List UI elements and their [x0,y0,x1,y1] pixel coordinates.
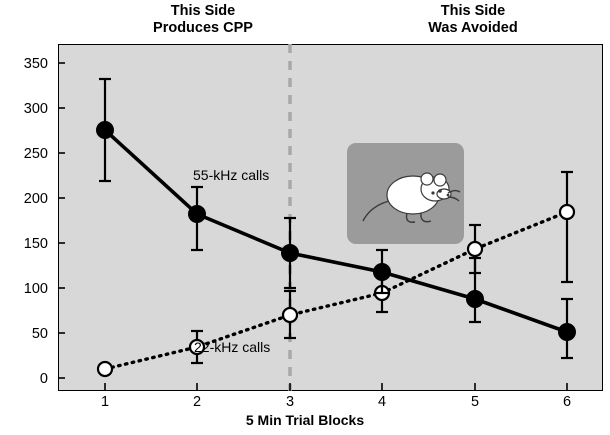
x-tick-3: 3 [275,394,305,410]
chart-svg [58,44,603,391]
y-tick-200: 200 [8,191,48,207]
series-55khz-errorbars [99,79,573,358]
x-tick-4: 4 [367,394,397,410]
y-tick-150: 150 [8,236,48,252]
series-55khz-label: 55-kHz calls [193,168,269,183]
series-22khz-markers [98,205,574,376]
x-axis-label: 5 Min Trial Blocks [0,412,610,428]
y-tick-0: 0 [8,371,48,387]
series-55khz-line [105,130,567,332]
x-tick-1: 1 [90,394,120,410]
series-22khz-label: 22-kHz calls [194,340,270,355]
chart-root: This Side Produces CPP This Side Was Avo… [0,0,610,435]
y-tick-300: 300 [8,101,48,117]
series-22khz-line [105,212,567,369]
y-tick-350: 350 [8,56,48,72]
x-tick-5: 5 [460,394,490,410]
y-tick-100: 100 [8,281,48,297]
y-tick-50: 50 [8,326,48,342]
x-tick-6: 6 [552,394,582,410]
header-left: This Side Produces CPP [118,3,288,37]
y-tick-250: 250 [8,146,48,162]
x-tick-2: 2 [182,394,212,410]
plot-area: 55-kHz calls 22-kHz calls 22 kHz 55 kHz [58,44,603,391]
header-right: This Side Was Avoided [388,3,558,37]
